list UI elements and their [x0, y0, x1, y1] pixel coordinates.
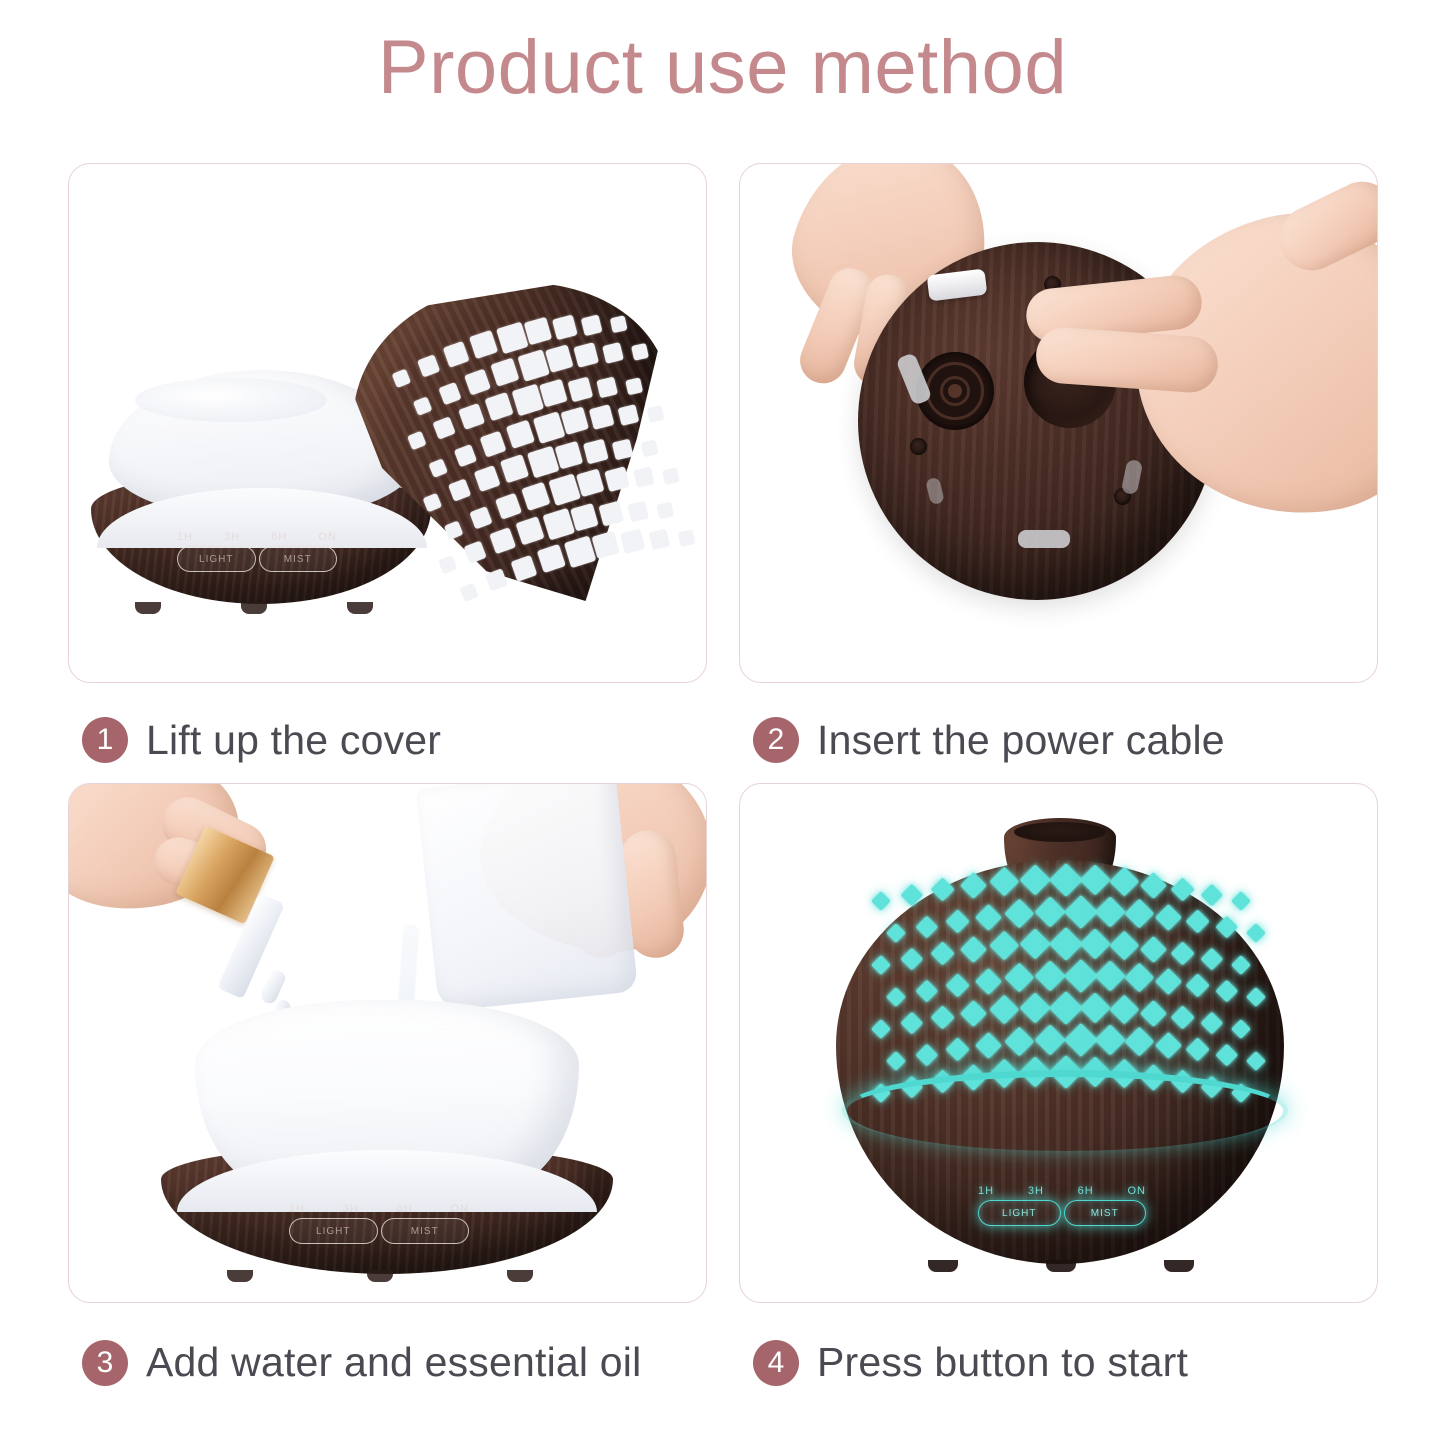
timer-labels: 1H 3H 6H ON — [978, 1185, 1146, 1197]
step-3-photo-card: 1H 3H 6H ON LIGHT MIST — [68, 783, 707, 1303]
button-row: LIGHT MIST — [978, 1200, 1146, 1226]
step-3-caption: 3 Add water and essential oil — [68, 1303, 707, 1408]
button-row: LIGHT MIST — [289, 1218, 469, 1244]
step-1-caption: 1 Lift up the cover — [68, 683, 707, 783]
step-3-badge: 3 — [82, 1340, 128, 1386]
step-2-caption-text: Insert the power cable — [817, 717, 1225, 764]
step-2-caption: 2 Insert the power cable — [739, 683, 1378, 783]
light-button[interactable]: LIGHT — [978, 1200, 1061, 1226]
timer-label-6h: 6H — [397, 1203, 413, 1215]
timer-label-3h: 3H — [1028, 1185, 1044, 1197]
step-4-caption-text: Press button to start — [817, 1339, 1188, 1386]
timer-label-1h: 1H — [289, 1203, 305, 1215]
step-1-photo-card: 1H 3H 6H ON LIGHT MIST — [68, 163, 707, 683]
scene-add-water-and-essential-oil: 1H 3H 6H ON LIGHT MIST — [69, 784, 706, 1302]
timer-label-1h: 1H — [177, 531, 193, 543]
steps-grid: 1H 3H 6H ON LIGHT MIST — [68, 163, 1378, 1408]
rubber-foot — [925, 477, 945, 506]
base-foot — [928, 1260, 958, 1272]
scene-lift-up-the-cover: 1H 3H 6H ON LIGHT MIST — [69, 164, 706, 682]
step-3-caption-text: Add water and essential oil — [146, 1339, 641, 1386]
timer-label-6h: 6H — [1078, 1185, 1094, 1197]
step-1-caption-text: Lift up the cover — [146, 717, 441, 764]
mist-button[interactable]: MIST — [1064, 1200, 1147, 1226]
step-4-photo-card: 1H 3H 6H ON LIGHT MIST — [739, 783, 1378, 1303]
step-2-photo-card — [739, 163, 1378, 683]
button-row: LIGHT MIST — [177, 546, 337, 572]
step-4-caption: 4 Press button to start — [739, 1303, 1378, 1408]
rubber-foot — [1121, 459, 1144, 496]
base-foot — [507, 1270, 533, 1282]
base-foot — [1046, 1260, 1076, 1272]
scene-press-button-to-start: 1H 3H 6H ON LIGHT MIST — [740, 784, 1377, 1302]
base-foot — [347, 602, 373, 614]
timer-label-3h: 3H — [343, 1203, 359, 1215]
screw — [910, 438, 927, 455]
timer-labels: 1H 3H 6H ON — [289, 1203, 469, 1215]
timer-label-on: ON — [450, 1203, 469, 1215]
timer-label-1h: 1H — [978, 1185, 994, 1197]
base-foot — [1164, 1260, 1194, 1272]
control-panel-lit: 1H 3H 6H ON LIGHT MIST — [978, 1185, 1146, 1226]
base-foot — [367, 1270, 393, 1282]
timer-label-on: ON — [1127, 1185, 1146, 1197]
timer-label-on: ON — [318, 531, 337, 543]
page-title: Product use method — [0, 24, 1445, 111]
mist-button[interactable]: MIST — [259, 546, 338, 572]
mist-outlet — [1014, 822, 1106, 842]
led-glow-ring — [842, 1070, 1288, 1151]
light-button[interactable]: LIGHT — [289, 1218, 378, 1244]
fan-hub — [948, 384, 962, 398]
base-foot — [135, 602, 161, 614]
control-panel: 1H 3H 6H ON LIGHT MIST — [177, 531, 337, 572]
base-foot — [227, 1270, 253, 1282]
diffuser-base-open: 1H 3H 6H ON LIGHT MIST — [161, 1000, 613, 1280]
mist-button[interactable]: MIST — [381, 1218, 470, 1244]
scene-insert-the-power-cable — [740, 164, 1377, 682]
light-button[interactable]: LIGHT — [177, 546, 256, 572]
base-foot — [241, 602, 267, 614]
step-1-badge: 1 — [82, 717, 128, 763]
timer-label-3h: 3H — [224, 531, 240, 543]
timer-labels: 1H 3H 6H ON — [177, 531, 337, 543]
timer-label-6h: 6H — [271, 531, 287, 543]
water-measuring-cup — [416, 783, 638, 1012]
step-4-badge: 4 — [753, 1340, 799, 1386]
rubber-foot — [1018, 530, 1070, 548]
control-panel: 1H 3H 6H ON LIGHT MIST — [289, 1203, 469, 1244]
assembled-diffuser: 1H 3H 6H ON LIGHT MIST — [836, 818, 1284, 1270]
step-2-badge: 2 — [753, 717, 799, 763]
